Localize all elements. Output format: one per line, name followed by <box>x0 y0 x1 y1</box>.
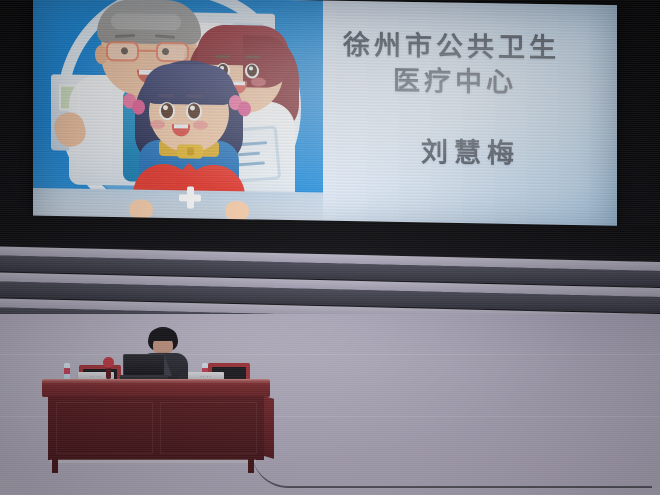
girl-eyebrow-right <box>186 94 202 97</box>
girl-eye-left <box>159 102 175 120</box>
hair-bow-left-icon <box>123 93 147 115</box>
presenter-fringe <box>149 329 177 341</box>
microphone-icon <box>106 365 111 379</box>
slide-content: 徐州市公共卫生 医疗中心 刘慧梅 <box>33 0 617 233</box>
medical-cross-icon <box>179 186 201 208</box>
laptop-icon <box>120 354 168 381</box>
nurse-eyebrow-right <box>245 55 260 58</box>
table-leg-right <box>248 459 254 473</box>
conference-table: ·· ·· ·· ·· <box>42 379 272 479</box>
girl-eye-right <box>186 102 202 120</box>
girl-figure <box>129 60 249 212</box>
slide-illustration-panel <box>33 0 323 229</box>
girl-eyebrow-left <box>158 94 174 97</box>
girl-blush-left <box>150 120 165 129</box>
floor-cable <box>252 452 652 488</box>
nurse-eyebrow-left <box>215 55 230 58</box>
slide-title-line-2: 医疗中心 <box>393 59 517 100</box>
hair-bow-right-icon <box>229 95 253 117</box>
bowtie-icon <box>177 144 203 158</box>
nurse-blush-right <box>251 77 266 86</box>
table-top-surface <box>42 379 270 397</box>
girl-blush-right <box>193 121 208 130</box>
photo-scene: 徐州市公共卫生 医疗中心 刘慧梅 <box>0 0 660 495</box>
table-base-trim <box>50 459 256 463</box>
table-leg-left <box>52 459 58 473</box>
table-side-panel <box>264 396 274 459</box>
slide-text-block: 徐州市公共卫生 医疗中心 刘慧梅 <box>333 1 617 233</box>
projection-screen: 徐州市公共卫生 医疗中心 刘慧梅 <box>33 0 617 233</box>
girl-bangs <box>143 64 235 105</box>
table-front-panel <box>48 396 264 460</box>
slide-author-name: 刘慧梅 <box>421 130 520 171</box>
